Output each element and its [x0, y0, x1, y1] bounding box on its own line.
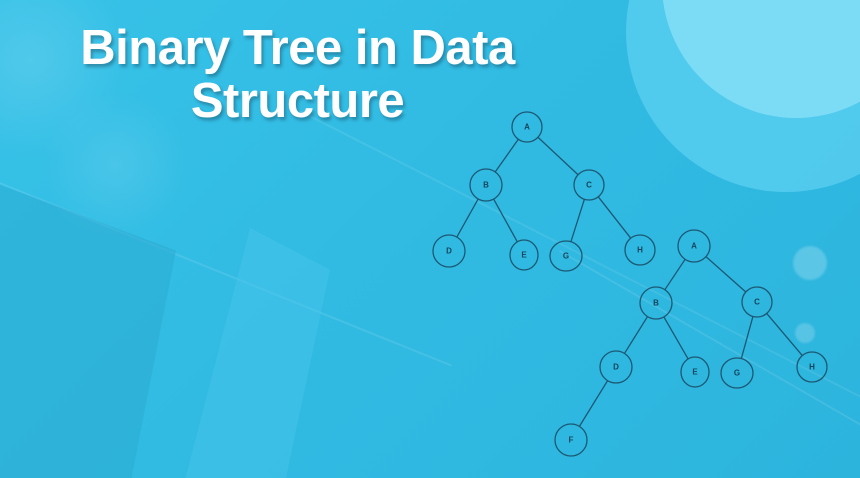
tree-node[interactable]: F	[555, 424, 587, 456]
tree-node[interactable]: H	[797, 352, 827, 382]
tree-edge	[457, 199, 478, 237]
tree-edge	[624, 317, 647, 354]
tree-node[interactable]: C	[742, 287, 772, 317]
tree-node-label: C	[754, 298, 760, 307]
tree-node[interactable]: D	[600, 351, 632, 383]
binary-tree-diagram: ABCDEGHABCDEGHF	[0, 0, 860, 478]
tree-node[interactable]: D	[433, 235, 465, 267]
tree-node-label: E	[692, 368, 698, 377]
tree-edge	[538, 137, 578, 175]
tree-node-label: B	[653, 299, 659, 308]
tree-node[interactable]: G	[721, 358, 753, 388]
tree-node[interactable]: G	[550, 241, 582, 271]
tree-edge	[664, 317, 688, 359]
tree-node[interactable]: A	[512, 112, 542, 142]
tree-node-label: G	[734, 369, 740, 378]
slide-canvas: Binary Tree in Data Structure ABCDEGHABC…	[0, 0, 860, 478]
tree-node[interactable]: A	[678, 230, 710, 262]
tree-2: ABCDEGHF	[555, 230, 827, 456]
tree-node-label: C	[586, 181, 592, 190]
tree-node-label: D	[446, 247, 452, 256]
tree-edge	[494, 199, 518, 242]
tree-node-label: H	[637, 246, 643, 255]
tree-node[interactable]: E	[510, 240, 538, 270]
tree-node-label: D	[613, 363, 619, 372]
tree-node[interactable]: C	[574, 170, 604, 200]
tree-edge	[706, 257, 746, 292]
tree-1: ABCDEGH	[433, 112, 655, 271]
tree-edge	[665, 259, 685, 289]
tree-edge	[767, 313, 803, 355]
tree-node[interactable]: B	[470, 169, 502, 201]
tree-node-label: E	[521, 251, 527, 260]
tree-node[interactable]: E	[681, 357, 709, 387]
tree-node[interactable]: H	[625, 235, 655, 265]
tree-node-label: H	[809, 363, 815, 372]
tree-node-label: B	[483, 181, 489, 190]
tree-edge	[598, 197, 630, 238]
tree-node-label: F	[569, 436, 574, 445]
tree-edge	[741, 316, 753, 358]
tree-edge	[495, 139, 518, 172]
tree-node[interactable]: B	[640, 287, 672, 319]
tree-edge	[579, 381, 607, 427]
tree-node-label: A	[691, 242, 697, 251]
tree-node-label: G	[563, 252, 569, 261]
tree-node-label: A	[524, 123, 530, 132]
tree-edge	[571, 199, 584, 241]
